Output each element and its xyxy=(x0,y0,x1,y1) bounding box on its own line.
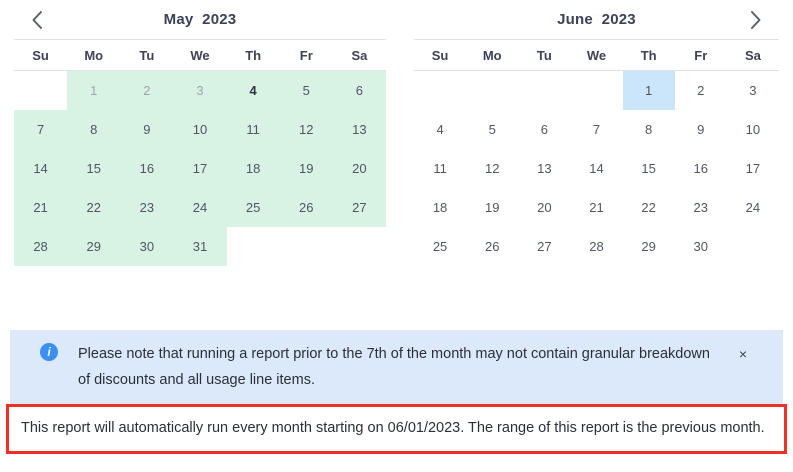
day-cell[interactable]: 2 xyxy=(675,71,727,110)
weekday-label: Th xyxy=(227,40,280,70)
day-cell[interactable]: 29 xyxy=(623,227,675,266)
day-cell[interactable]: 24 xyxy=(727,188,779,227)
weekday-label: Tu xyxy=(518,40,570,70)
day-cell[interactable]: 21 xyxy=(14,188,67,227)
day-cell-empty xyxy=(466,71,518,110)
day-cell[interactable]: 28 xyxy=(570,227,622,266)
calendar-header-right: June 2023 xyxy=(414,0,779,39)
day-cell-empty xyxy=(14,71,67,110)
day-cell[interactable]: 13 xyxy=(518,149,570,188)
weekday-label: Su xyxy=(414,40,466,70)
day-cell[interactable]: 30 xyxy=(675,227,727,266)
day-cell[interactable]: 3 xyxy=(173,71,226,110)
day-cell[interactable]: 31 xyxy=(173,227,226,266)
weekday-header-right: SuMoTuWeThFrSa xyxy=(414,39,779,71)
weekday-label: Mo xyxy=(466,40,518,70)
close-icon[interactable]: × xyxy=(733,344,753,364)
weekday-label: We xyxy=(173,40,226,70)
day-cell[interactable]: 7 xyxy=(14,110,67,149)
day-cell[interactable]: 21 xyxy=(570,188,622,227)
day-cell[interactable]: 25 xyxy=(414,227,466,266)
day-cell[interactable]: 26 xyxy=(466,227,518,266)
day-grid-left: 1234567891011121314151617181920212223242… xyxy=(14,71,386,266)
day-cell[interactable]: 9 xyxy=(120,110,173,149)
day-cell[interactable]: 3 xyxy=(727,71,779,110)
day-cell[interactable]: 2 xyxy=(120,71,173,110)
weekday-label: Mo xyxy=(67,40,120,70)
weekday-label: We xyxy=(570,40,622,70)
day-cell[interactable]: 10 xyxy=(727,110,779,149)
day-cell[interactable]: 22 xyxy=(67,188,120,227)
day-cell[interactable]: 30 xyxy=(120,227,173,266)
day-cell[interactable]: 14 xyxy=(570,149,622,188)
chevron-right-icon[interactable] xyxy=(741,5,771,35)
weekday-label: Fr xyxy=(675,40,727,70)
day-cell[interactable]: 4 xyxy=(414,110,466,149)
day-cell-empty xyxy=(727,227,779,266)
day-cell[interactable]: 25 xyxy=(227,188,280,227)
day-cell[interactable]: 13 xyxy=(333,110,386,149)
day-cell[interactable]: 6 xyxy=(333,71,386,110)
day-cell[interactable]: 7 xyxy=(570,110,622,149)
day-cell[interactable]: 23 xyxy=(120,188,173,227)
weekday-label: Tu xyxy=(120,40,173,70)
day-cell[interactable]: 26 xyxy=(280,188,333,227)
weekday-label: Sa xyxy=(727,40,779,70)
day-cell[interactable]: 15 xyxy=(67,149,120,188)
date-range-picker: May 2023 SuMoTuWeThFrSa 1234567891011121… xyxy=(0,0,793,300)
day-cell[interactable]: 9 xyxy=(675,110,727,149)
day-cell[interactable]: 27 xyxy=(518,227,570,266)
day-cell[interactable]: 10 xyxy=(173,110,226,149)
day-cell[interactable]: 27 xyxy=(333,188,386,227)
calendar-title-right: June 2023 xyxy=(557,11,636,28)
info-circle-icon: i xyxy=(40,343,58,361)
day-cell[interactable]: 5 xyxy=(280,71,333,110)
day-cell[interactable]: 12 xyxy=(466,149,518,188)
day-grid-right: 1234567891011121314151617181920212223242… xyxy=(414,71,779,266)
day-cell[interactable]: 12 xyxy=(280,110,333,149)
day-cell-empty xyxy=(333,227,386,266)
day-cell-empty xyxy=(414,71,466,110)
calendar-month-right: June 2023 SuMoTuWeThFrSa 123456789101112… xyxy=(400,0,793,300)
calendar-title-left: May 2023 xyxy=(164,11,237,28)
day-cell-empty xyxy=(570,71,622,110)
day-cell-empty xyxy=(227,227,280,266)
day-cell[interactable]: 14 xyxy=(14,149,67,188)
day-cell[interactable]: 4 xyxy=(227,71,280,110)
day-cell[interactable]: 16 xyxy=(675,149,727,188)
calendar-month-left: May 2023 SuMoTuWeThFrSa 1234567891011121… xyxy=(0,0,400,300)
day-cell[interactable]: 1 xyxy=(67,71,120,110)
day-cell[interactable]: 16 xyxy=(120,149,173,188)
calendar-header-left: May 2023 xyxy=(14,0,386,39)
weekday-label: Sa xyxy=(333,40,386,70)
weekday-header-left: SuMoTuWeThFrSa xyxy=(14,39,386,71)
info-banner-text: Please note that running a report prior … xyxy=(78,341,719,393)
day-cell[interactable]: 17 xyxy=(173,149,226,188)
day-cell[interactable]: 20 xyxy=(518,188,570,227)
info-banner: i Please note that running a report prio… xyxy=(10,330,783,405)
day-cell[interactable]: 28 xyxy=(14,227,67,266)
weekday-label: Th xyxy=(623,40,675,70)
day-cell[interactable]: 29 xyxy=(67,227,120,266)
day-cell[interactable]: 8 xyxy=(623,110,675,149)
schedule-notice: This report will automatically run every… xyxy=(6,404,787,454)
day-cell-empty xyxy=(280,227,333,266)
day-cell[interactable]: 19 xyxy=(280,149,333,188)
day-cell[interactable]: 6 xyxy=(518,110,570,149)
day-cell[interactable]: 5 xyxy=(466,110,518,149)
day-cell[interactable]: 18 xyxy=(227,149,280,188)
day-cell[interactable]: 11 xyxy=(414,149,466,188)
day-cell[interactable]: 20 xyxy=(333,149,386,188)
day-cell-empty xyxy=(518,71,570,110)
day-cell[interactable]: 11 xyxy=(227,110,280,149)
day-cell[interactable]: 8 xyxy=(67,110,120,149)
schedule-notice-text: This report will automatically run every… xyxy=(21,415,772,441)
day-cell[interactable]: 15 xyxy=(623,149,675,188)
day-cell[interactable]: 22 xyxy=(623,188,675,227)
day-cell[interactable]: 17 xyxy=(727,149,779,188)
day-cell[interactable]: 18 xyxy=(414,188,466,227)
day-cell[interactable]: 1 xyxy=(623,71,675,110)
chevron-left-icon[interactable] xyxy=(22,5,52,35)
day-cell[interactable]: 23 xyxy=(675,188,727,227)
weekday-label: Su xyxy=(14,40,67,70)
day-cell[interactable]: 24 xyxy=(173,188,226,227)
day-cell[interactable]: 19 xyxy=(466,188,518,227)
weekday-label: Fr xyxy=(280,40,333,70)
